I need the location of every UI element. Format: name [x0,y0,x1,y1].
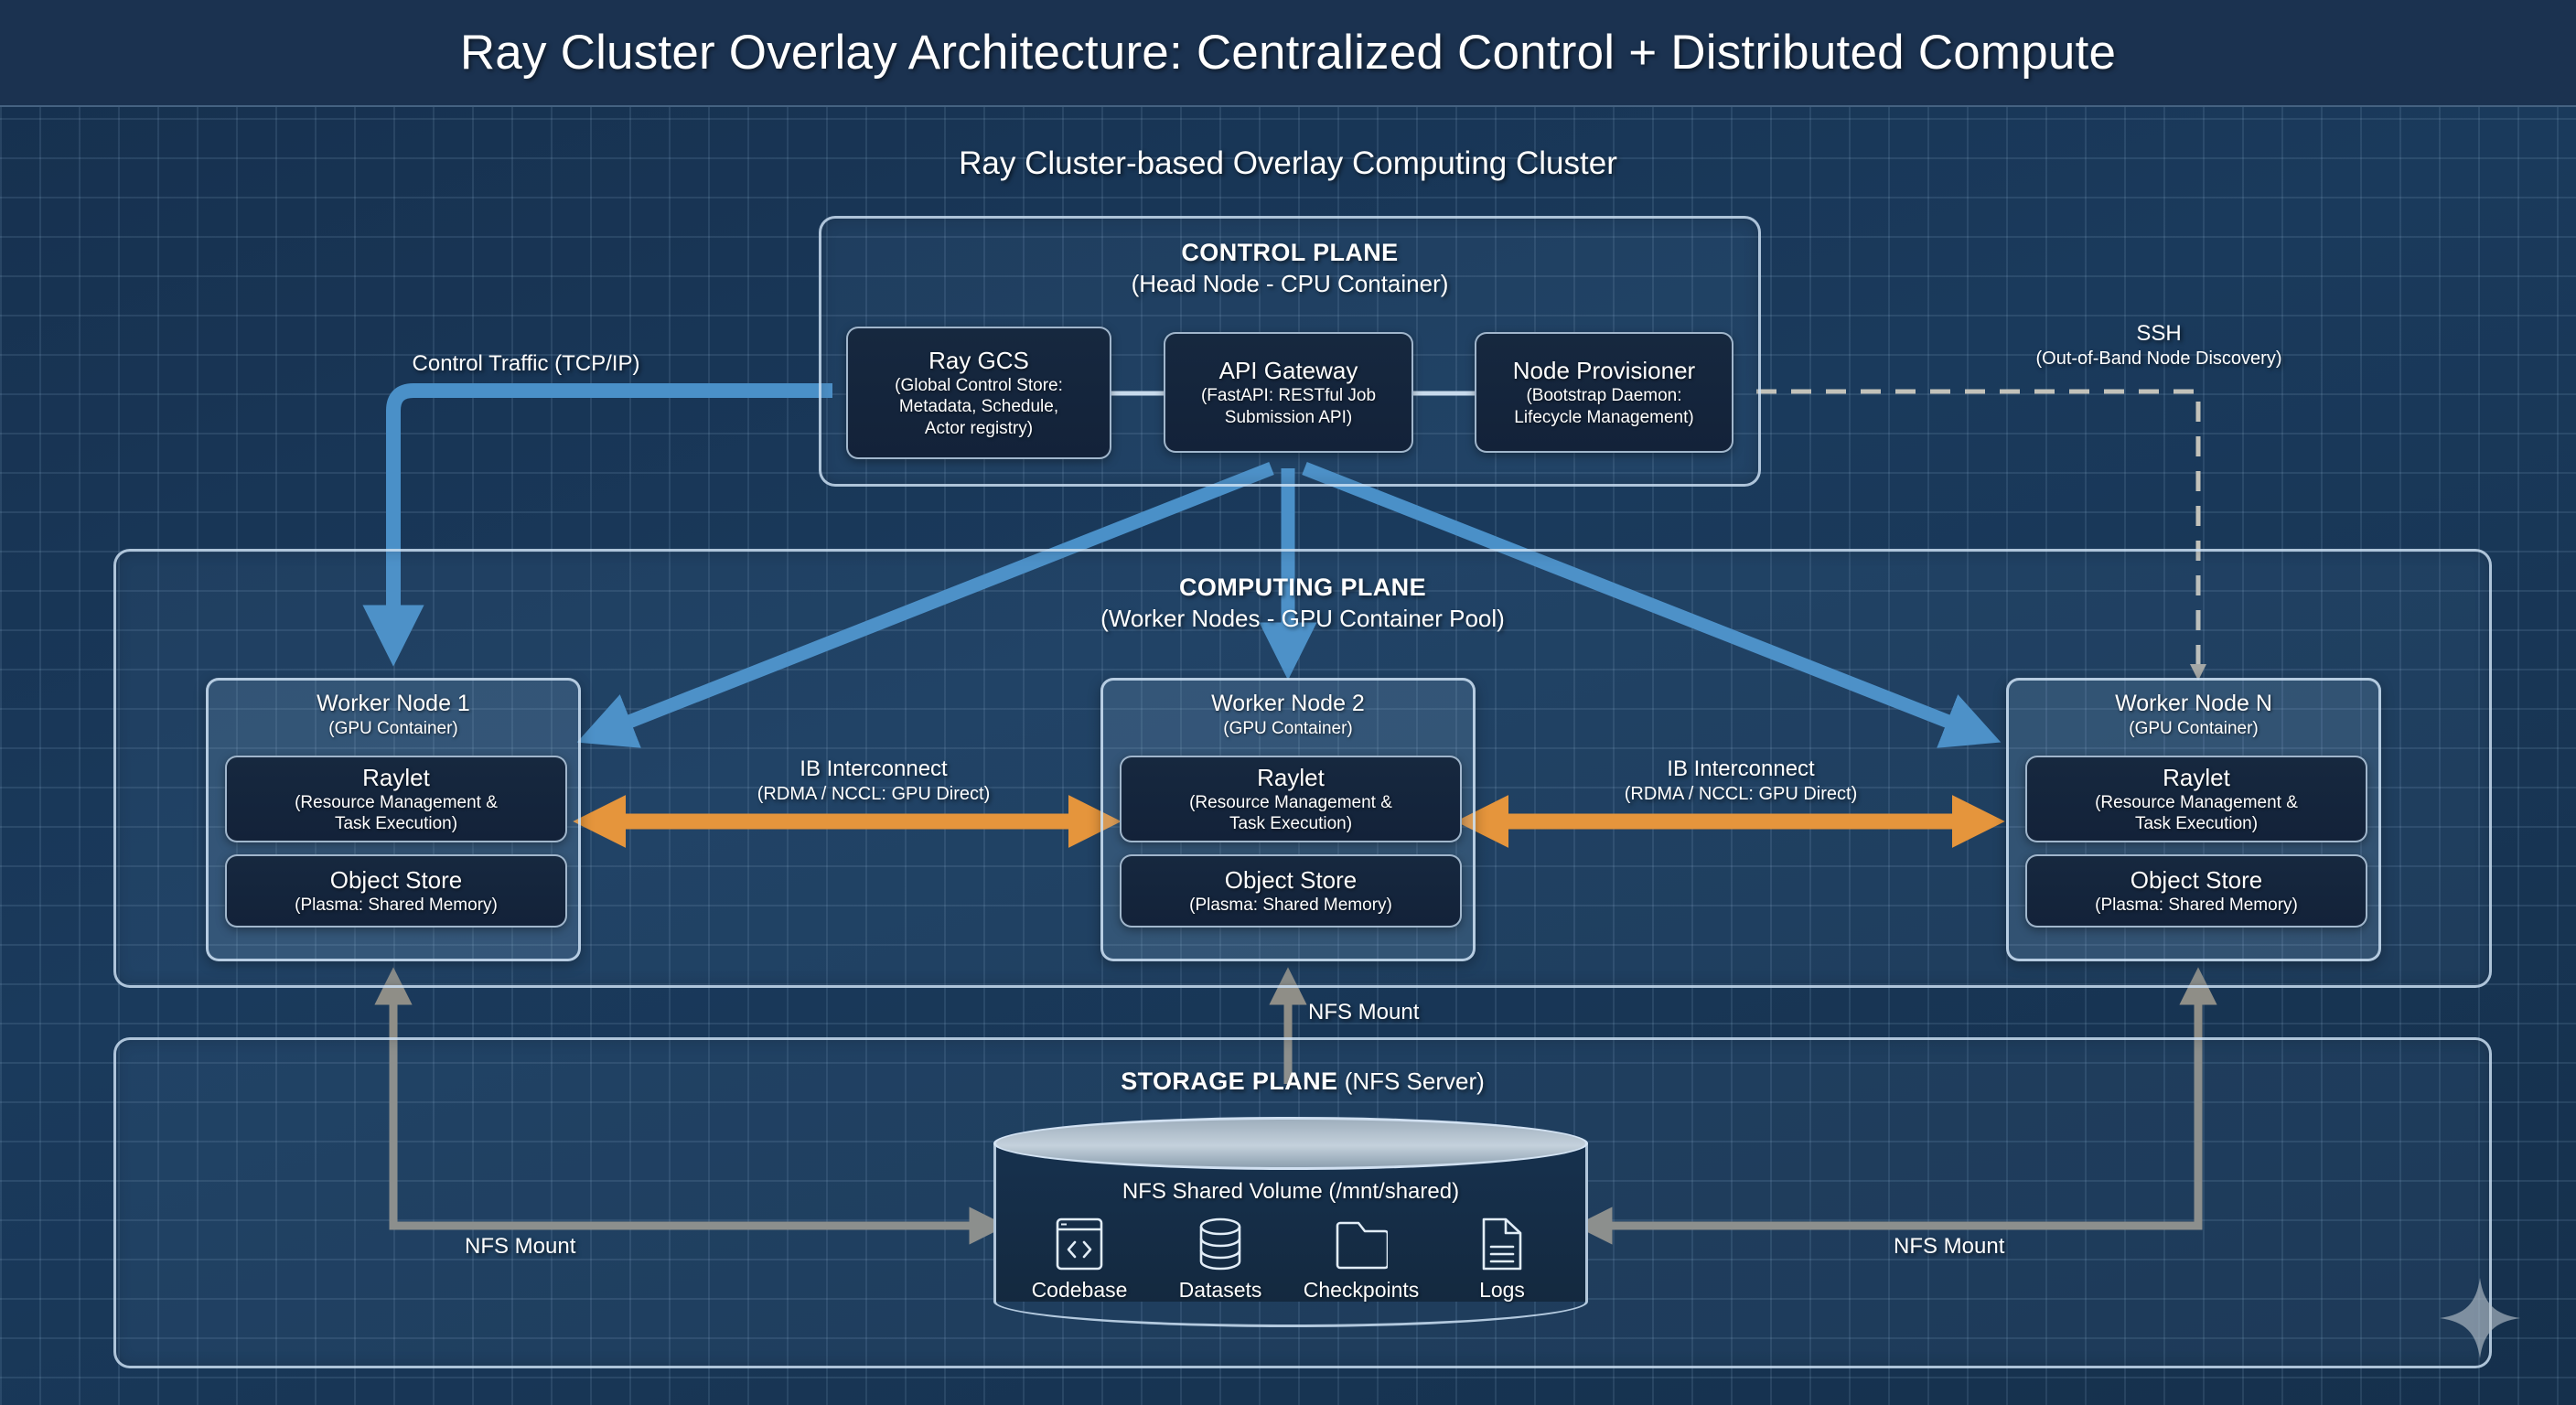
component-title: Raylet [362,764,430,792]
storage-asset-logs[interactable]: Logs [1440,1216,1564,1303]
service-api-gateway[interactable]: API Gateway (FastAPI: RESTful Job Submis… [1164,332,1413,453]
label-ib-right: IB Interconnect (RDMA / NCCL: GPU Direct… [1508,756,1974,806]
service-title: Node Provisioner [1513,357,1695,385]
service-line: (Bootstrap Daemon: [1526,385,1681,406]
service-line: (Global Control Store: [895,375,1063,396]
volume-label: NFS Shared Volume (/mnt/shared) [993,1179,1588,1205]
worker-object-store[interactable]: Object Store (Plasma: Shared Memory) [1120,854,1462,928]
control-plane-title: CONTROL PLANE (Head Node - CPU Container… [821,237,1758,299]
component-line: Task Execution) [335,813,457,834]
storage-asset-datasets[interactable]: Datasets [1158,1216,1283,1303]
cylinder-top [993,1117,1588,1170]
component-title: Raylet [2163,764,2230,792]
label-nfs-mount-left: NFS Mount [465,1233,703,1260]
storage-asset-checkpoints[interactable]: Checkpoints [1299,1216,1423,1303]
component-line: (Resource Management & [295,792,498,813]
service-title: API Gateway [1219,357,1358,385]
label-ssh: SSH (Out-of-Band Node Discovery) [1930,320,2388,370]
service-title: Ray GCS [928,347,1029,375]
worker-raylet[interactable]: Raylet (Resource Management & Task Execu… [1120,756,1462,842]
label-nfs-mount-right: NFS Mount [1894,1233,2131,1260]
diagram-canvas: Ray Cluster Overlay Architecture: Centra… [0,0,2576,1405]
service-node-provisioner[interactable]: Node Provisioner (Bootstrap Daemon: Life… [1475,332,1733,453]
service-line: Actor registry) [925,418,1033,439]
component-line: (Resource Management & [2095,792,2298,813]
component-line: (Plasma: Shared Memory) [2095,895,2298,916]
component-line: (Plasma: Shared Memory) [295,895,498,916]
asset-label: Codebase [1017,1278,1142,1303]
service-line: Metadata, Schedule, [899,396,1058,417]
four-point-star-icon [2438,1276,2522,1360]
component-line: (Resource Management & [1189,792,1392,813]
component-line: Task Execution) [2135,813,2258,834]
worker-raylet[interactable]: Raylet (Resource Management & Task Execu… [2025,756,2367,842]
storage-plane-title: STORAGE PLANE (NFS Server) [116,1066,2489,1098]
worker-node-header: Worker Node 2 (GPU Container) [1103,690,1473,739]
worker-node-header: Worker Node 1 (GPU Container) [209,690,578,739]
code-window-icon [1017,1216,1142,1272]
storage-asset-list: Codebase Datasets [1017,1216,1564,1303]
worker-node-n[interactable]: Worker Node N (GPU Container) Raylet (Re… [2006,678,2381,961]
service-ray-gcs[interactable]: Ray GCS (Global Control Store: Metadata,… [846,327,1111,459]
label-ib-left: IB Interconnect (RDMA / NCCL: GPU Direct… [640,756,1107,806]
worker-object-store[interactable]: Object Store (Plasma: Shared Memory) [225,854,567,928]
component-title: Object Store [2131,866,2263,895]
component-title: Object Store [1225,866,1358,895]
service-line: Lifecycle Management) [1514,407,1693,428]
component-title: Object Store [330,866,463,895]
folder-icon [1299,1216,1423,1272]
worker-node-1[interactable]: Worker Node 1 (GPU Container) Raylet (Re… [206,678,581,961]
component-line: (Plasma: Shared Memory) [1189,895,1392,916]
computing-plane-title: COMPUTING PLANE (Worker Nodes - GPU Cont… [116,572,2489,634]
storage-asset-codebase[interactable]: Codebase [1017,1216,1142,1303]
worker-object-store[interactable]: Object Store (Plasma: Shared Memory) [2025,854,2367,928]
component-line: Task Execution) [1229,813,1352,834]
service-line: Submission API) [1225,407,1352,428]
component-title: Raylet [1257,764,1325,792]
asset-label: Logs [1440,1278,1564,1303]
worker-node-header: Worker Node N (GPU Container) [2009,690,2378,739]
document-lines-icon [1440,1216,1564,1272]
label-control-traffic: Control Traffic (TCP/IP) [325,350,727,378]
asset-label: Checkpoints [1299,1278,1423,1303]
label-nfs-mount-center: NFS Mount [1308,999,1546,1026]
worker-raylet[interactable]: Raylet (Resource Management & Task Execu… [225,756,567,842]
database-stack-icon [1158,1216,1283,1272]
asset-label: Datasets [1158,1278,1283,1303]
nfs-shared-volume-cylinder[interactable]: NFS Shared Volume (/mnt/shared) Codebase [993,1117,1588,1327]
worker-node-2[interactable]: Worker Node 2 (GPU Container) Raylet (Re… [1100,678,1476,961]
service-line: (FastAPI: RESTful Job [1201,385,1376,406]
